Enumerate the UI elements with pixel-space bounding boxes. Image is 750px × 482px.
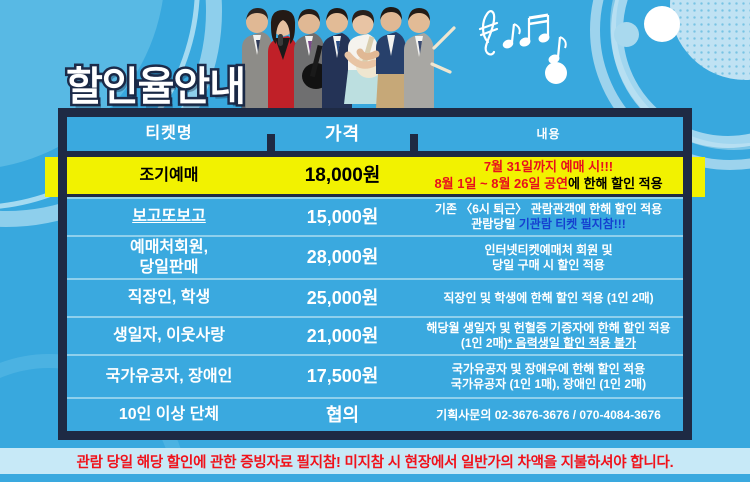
table-row: 직장인, 학생 25,000원 직장인 및 학생에 한해 할인 적용 (1인 2… [67,278,683,316]
ticket-price: 28,000원 [271,237,414,278]
ticket-price: 18,000원 [271,157,414,194]
decorative-dot-white-large [644,6,680,42]
table-row: 예매처회원, 당일판매 28,000원 인터넷티켓예매처 회원 및 당일 구매 … [67,235,683,278]
ticket-name: 예매처회원, 당일판매 [67,237,271,278]
ticket-name-line-1: 예매처회원, [130,238,208,258]
ticket-name: 보고또보고 [67,199,271,235]
ticket-name: 10인 이상 단체 [67,399,271,431]
ticket-name: 국가유공자, 장애인 [67,356,271,397]
ticket-description: 해당월 생일자 및 헌혈증 기증자에 한해 할인 적용 (1인 2매)* 음력생… [414,318,683,354]
ticket-price: 25,000원 [271,280,414,316]
ticket-name: 생일자, 이웃사랑 [67,318,271,354]
description-line-2: (1인 2매)* 음력생일 할인 적용 불가 [426,336,670,351]
bottom-notice-text: 관람 당일 해당 할인에 관한 증빙자료 필지참! 미지참 시 현장에서 일반가… [77,451,674,472]
description-line-1: 인터넷티켓예매처 회원 및 [484,243,612,258]
decorative-dot-pale [614,22,639,47]
ticket-price: 15,000원 [271,199,414,235]
ticket-name-line-2: 당일판매 [130,258,208,278]
description-line-1: 국가유공자 및 장애우에 한해 할인 적용 [451,362,646,377]
description-line-2: 국가유공자 (1인 1매), 장애인 (1인 2매) [451,377,646,392]
decorative-dot-white-small [545,62,567,84]
ticket-price: 협의 [271,399,414,431]
header-divider-tab-1 [267,134,275,151]
description-line-1: 해당월 생일자 및 헌혈증 기증자에 한해 할인 적용 [426,321,670,336]
column-header-ticket-name: 티켓명 [67,117,271,151]
ticket-description: 기존 〈6시 퇴근〉 관람관객에 한해 할인 적용 관람당일 기관람 티켓 필지… [414,199,683,235]
ticket-name: 조기예매 [67,157,271,194]
column-header-description: 내용 [414,117,683,151]
ticket-price: 17,500원 [271,356,414,397]
ticket-description: 인터넷티켓예매처 회원 및 당일 구매 시 할인 적용 [414,237,683,278]
highlight-tab-left [45,157,58,197]
table-row: 조기예매 18,000원 7월 31일까지 예매 시!!! 8월 1일 ~ 8월… [67,157,683,197]
performers-group-photo [228,0,483,108]
header-divider-tab-2 [410,134,418,151]
table-row: 생일자, 이웃사랑 21,000원 해당월 생일자 및 헌혈증 기증자에 한해 … [67,316,683,354]
description-line-2: 관람당일 기관람 티켓 필지참!!! [435,217,662,232]
ticket-description: 7월 31일까지 예매 시!!! 8월 1일 ~ 8월 26일 공연에 한해 할… [414,157,683,194]
column-header-price: 가격 [271,117,414,151]
ticket-description: 기획사문의 02-3676-3676 / 070-4084-3676 [414,399,683,431]
ticket-description: 국가유공자 및 장애우에 한해 할인 적용 국가유공자 (1인 1매), 장애인… [414,356,683,397]
discount-table: 티켓명 가격 내용 조기예매 18,000원 7월 31일까지 예매 시!!! … [58,108,692,440]
discount-rate-poster: 할인율안내 티켓명 가격 내용 조기예매 18,000원 7월 31일까지 예매… [0,0,750,482]
highlight-tab-right [692,157,705,197]
ticket-name: 직장인, 학생 [67,280,271,316]
description-line-2: 당일 구매 시 할인 적용 [484,258,612,273]
table-row: 10인 이상 단체 협의 기획사문의 02-3676-3676 / 070-40… [67,397,683,431]
description-line-2: 8월 1일 ~ 8월 26일 공연에 한해 할인 적용 [434,176,662,192]
table-header-row: 티켓명 가격 내용 [67,117,683,157]
page-title: 할인율안내 [66,54,245,112]
ticket-description: 직장인 및 학생에 한해 할인 적용 (1인 2매) [414,280,683,316]
bottom-blue-strip [0,474,750,482]
bottom-notice-banner: 관람 당일 해당 할인에 관한 증빙자료 필지참! 미지참 시 현장에서 일반가… [0,448,750,474]
description-line-1: 7월 31일까지 예매 시!!! [434,159,662,175]
ticket-price: 21,000원 [271,318,414,354]
music-notes-icon [470,2,620,72]
decorative-dotted-disc-top-right [670,0,750,80]
table-row: 보고또보고 15,000원 기존 〈6시 퇴근〉 관람관객에 한해 할인 적용 … [67,197,683,235]
table-row: 국가유공자, 장애인 17,500원 국가유공자 및 장애우에 한해 할인 적용… [67,354,683,397]
description-line-1: 기존 〈6시 퇴근〉 관람관객에 한해 할인 적용 [435,202,662,217]
